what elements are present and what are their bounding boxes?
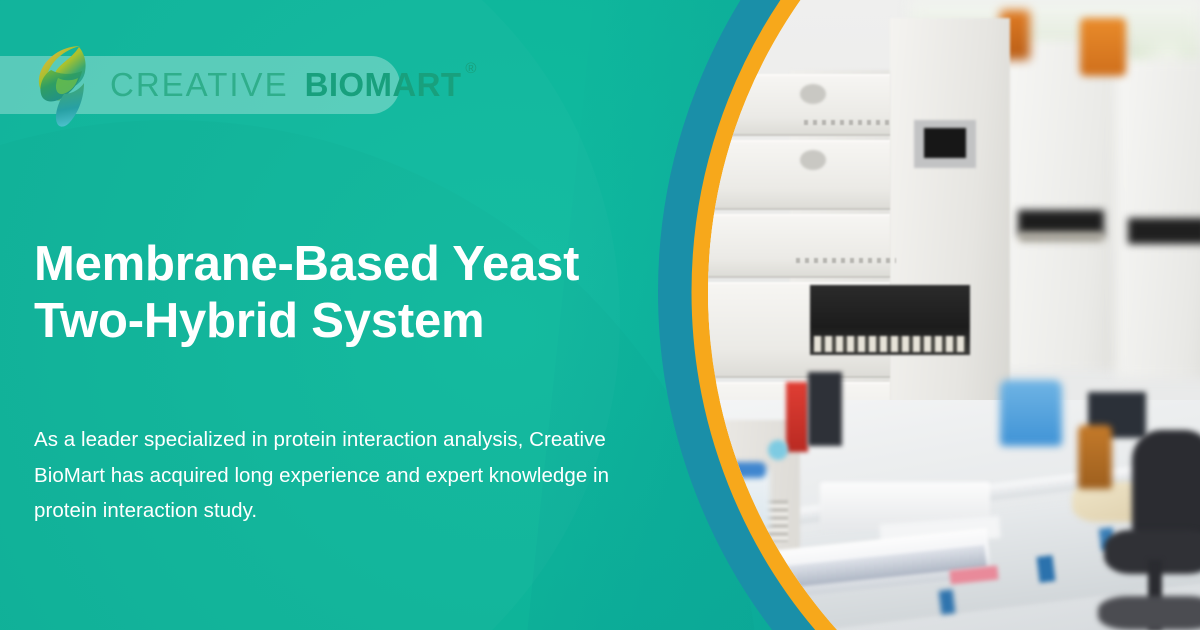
brand-name-creative: CREATIVE <box>110 66 289 104</box>
brand-logo[interactable]: CREATIVE BIOMART ® <box>34 42 477 128</box>
hero-description: As a leader specialized in protein inter… <box>34 422 659 529</box>
page-title: Membrane-Based Yeast Two-Hybrid System <box>34 236 694 350</box>
brand-wordmark: CREATIVE BIOMART ® <box>110 66 477 104</box>
promo-banner: CREATIVE BIOMART ® Membrane-Based Yeast … <box>0 0 1200 630</box>
registered-trademark-icon: ® <box>465 60 477 77</box>
flame-leaf-ribbon-logo-icon <box>34 42 96 128</box>
brand-name-biomart: BIOMART <box>305 66 462 104</box>
